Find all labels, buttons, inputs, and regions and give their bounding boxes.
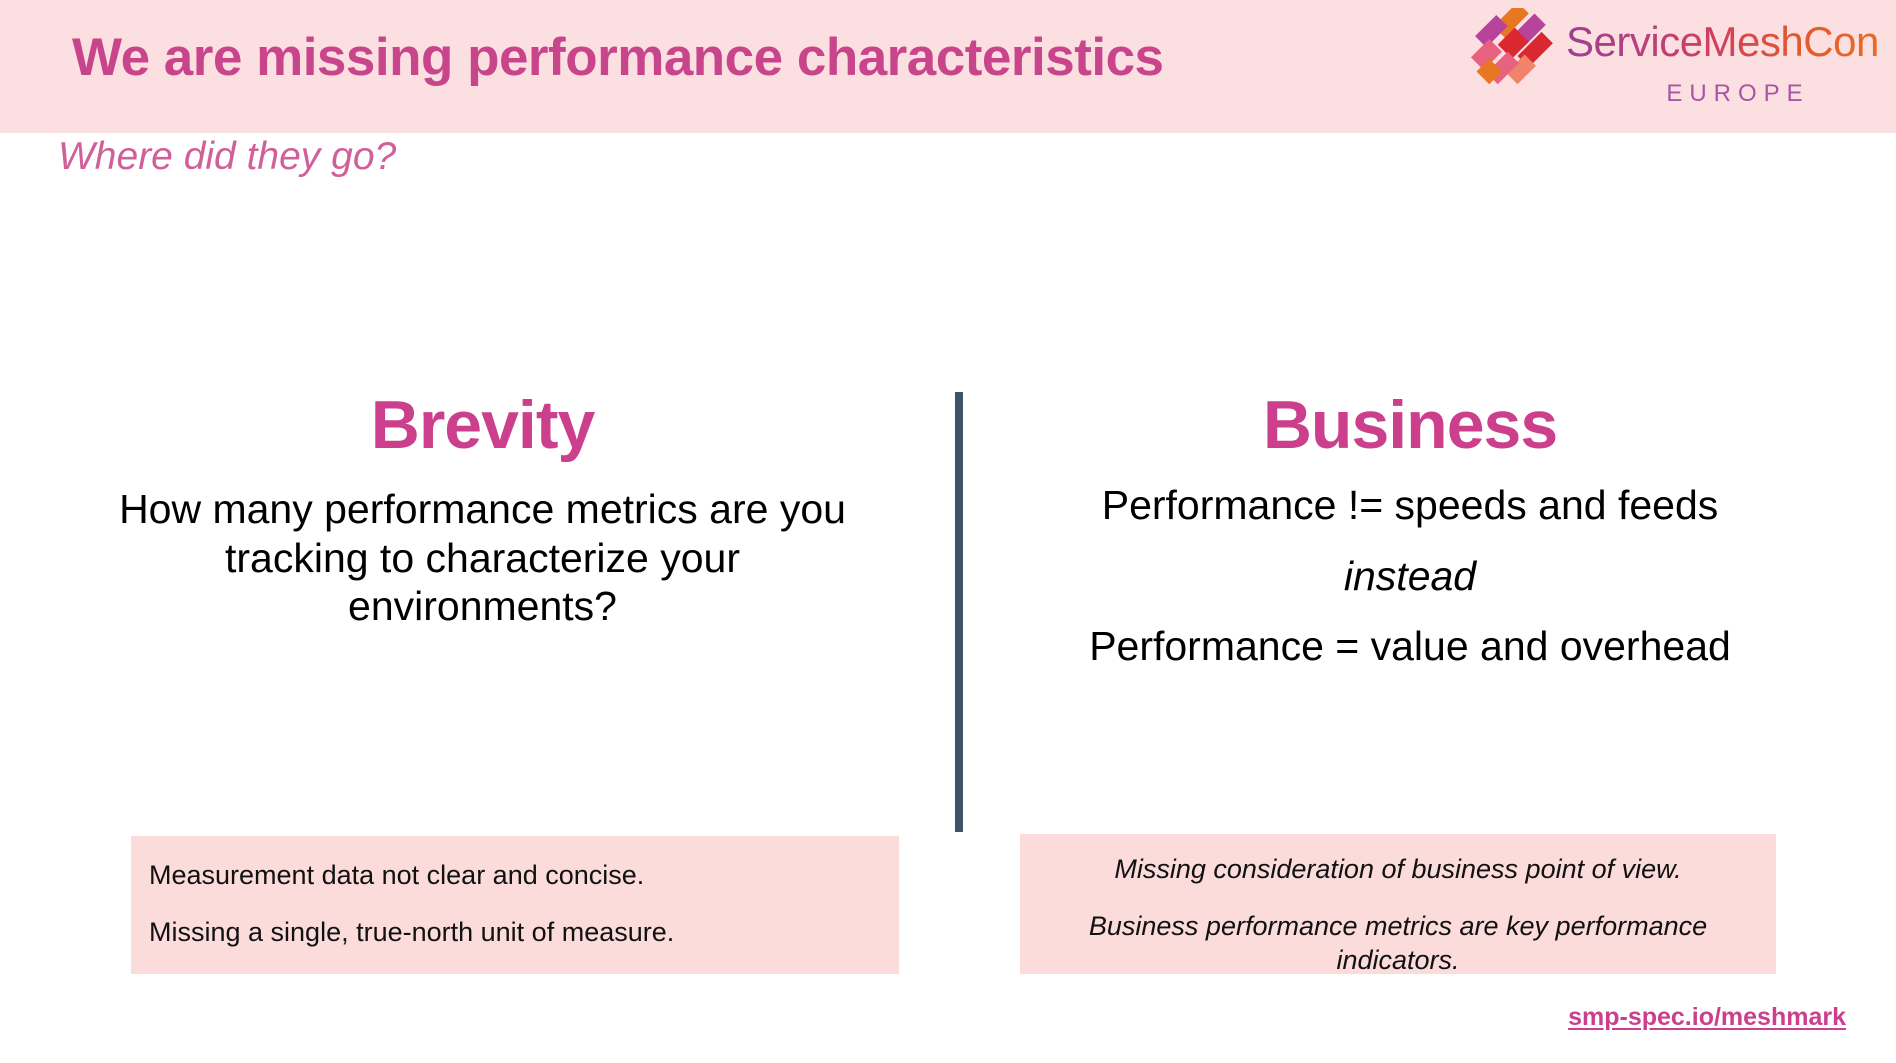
column-divider [955,392,963,832]
footer-spec-link[interactable]: smp-spec.io/meshmark [1568,1003,1846,1032]
slide: We are missing performance characteristi… [0,0,1896,1063]
column-body-business: Performance != speeds and feeds instead … [1000,481,1820,670]
column-heading-business: Business [1000,390,1820,461]
column-body-brevity: How many performance metrics are you tra… [55,485,910,630]
logo-wordmark: ServiceMeshCon [1566,18,1879,66]
business-line-3: Performance = value and overhead [1000,622,1820,670]
business-line-2: instead [1000,552,1820,600]
callout-box-business: Missing consideration of business point … [1020,834,1776,974]
callout-brevity-line-1: Measurement data not clear and concise. [149,858,881,893]
callout-box-brevity: Measurement data not clear and concise. … [131,836,899,974]
callout-business-line-1: Missing consideration of business point … [1042,852,1754,887]
logo-region-label: EUROPE [1588,80,1888,108]
service-mesh-diamond-icon [1468,8,1560,94]
business-line-1: Performance != speeds and feeds [1000,481,1820,529]
column-brevity: Brevity How many performance metrics are… [55,390,910,631]
callout-brevity-line-2: Missing a single, true-north unit of mea… [149,915,881,950]
page-title: We are missing performance characteristi… [72,26,1472,90]
column-business: Business Performance != speeds and feeds… [1000,390,1820,671]
slide-subtitle: Where did they go? [58,133,396,182]
callout-business-line-2: Business performance metrics are key per… [1042,909,1754,978]
servicemeshcon-logo: ServiceMeshCon EUROPE [1468,6,1880,124]
column-heading-brevity: Brevity [55,390,910,461]
